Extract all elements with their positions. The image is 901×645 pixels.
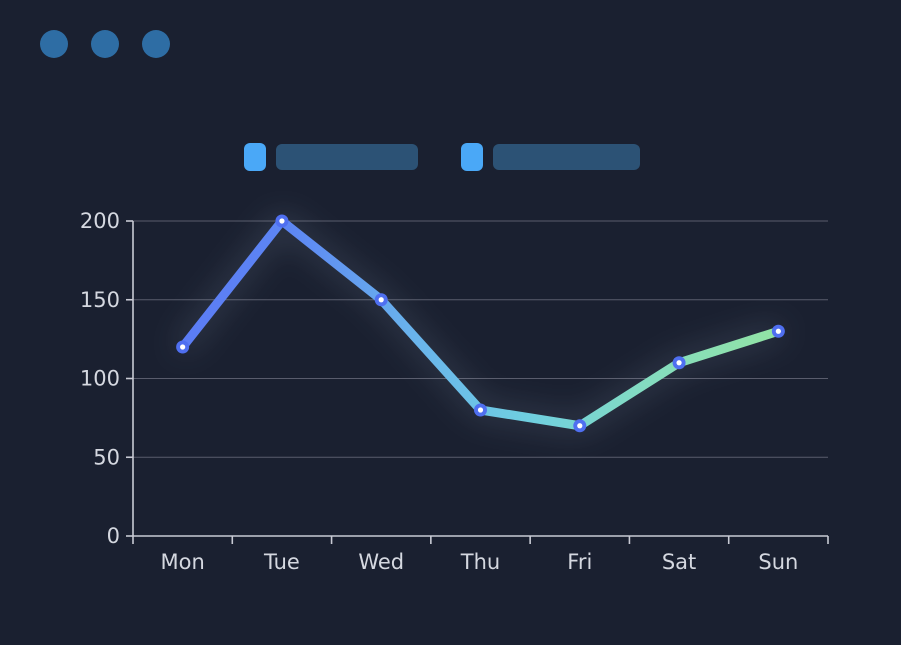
x-axis-tick-labels: MonTueWedThuFriSatSun (161, 550, 799, 574)
y-tick-label-50: 50 (93, 445, 120, 469)
y-tick-label-0: 0 (107, 524, 120, 548)
y-axis-tick-labels: 050100150200 (80, 209, 120, 548)
x-tick-label-Fri: Fri (567, 550, 592, 574)
series-line-path (183, 221, 779, 426)
x-tick-label-Sun: Sun (758, 550, 798, 574)
x-tick-label-Mon: Mon (161, 550, 205, 574)
y-tick-label-100: 100 (80, 367, 120, 391)
data-point-markers (176, 215, 785, 433)
chart-window: 050100150200 MonTueWedThuFriSatSun (0, 0, 901, 645)
x-tick-label-Wed: Wed (358, 550, 404, 574)
y-tick-label-200: 200 (80, 209, 120, 233)
y-tick-label-150: 150 (80, 288, 120, 312)
data-point-core-Thu (478, 407, 483, 412)
x-tick-label-Tue: Tue (263, 550, 300, 574)
data-point-core-Sat (676, 360, 681, 365)
gridlines-group (133, 221, 828, 457)
x-tick-label-Thu: Thu (460, 550, 500, 574)
data-point-core-Sun (776, 329, 781, 334)
line-glow (183, 221, 779, 426)
axes-group (126, 221, 828, 544)
series-glow-path (183, 221, 779, 426)
data-point-core-Wed (379, 297, 384, 302)
line-chart: 050100150200 MonTueWedThuFriSatSun (0, 0, 901, 645)
data-point-core-Tue (279, 218, 284, 223)
series-group (183, 221, 779, 426)
x-tick-label-Sat: Sat (662, 550, 696, 574)
data-point-core-Mon (180, 344, 185, 349)
chart-svg: 050100150200 MonTueWedThuFriSatSun (0, 0, 901, 645)
data-point-core-Fri (577, 423, 582, 428)
